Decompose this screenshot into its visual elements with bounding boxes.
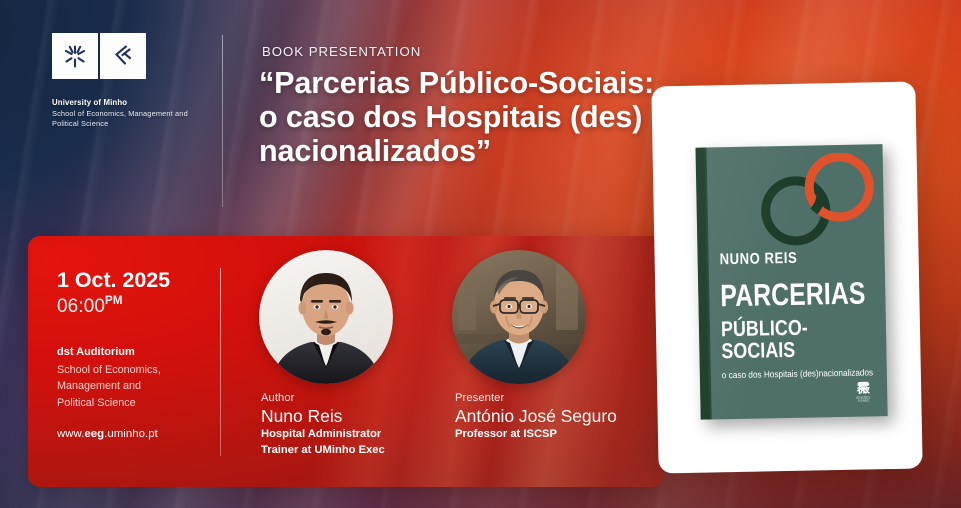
book-spine xyxy=(695,148,711,420)
event-poster: University of Minho School of Economics,… xyxy=(0,0,961,508)
speaker-name: Nuno Reis xyxy=(261,406,461,427)
event-time: 06:00PM xyxy=(57,295,123,318)
book-subtitle: o caso dos Hospitais (des)nacionalizados xyxy=(722,368,866,382)
publisher-mark-glyph: 霺 xyxy=(853,381,873,394)
page-title-line-2: o caso dos Hospitais (des) xyxy=(259,100,642,134)
publisher-logo: 霺 EDIÇÕES SILABO xyxy=(853,381,873,404)
speaker-presenter: Presenter António José Seguro Professor … xyxy=(455,391,655,442)
website-suffix: .uminho.pt xyxy=(104,428,158,440)
book-text-block: NUNO REIS PARCERIAS PÚBLICO-SOCIAIS o ca… xyxy=(719,248,881,381)
website-bold-part: eeg xyxy=(84,428,104,440)
page-title-line-3: nacionalizados” xyxy=(259,134,491,168)
asterisk-burst-glyph xyxy=(52,33,98,79)
university-school-line-2: Political Science xyxy=(52,119,108,128)
header-vertical-divider xyxy=(222,35,223,207)
speaker-author: Author Nuno Reis Hospital Administrator … xyxy=(261,391,461,458)
kicker-label: BOOK PRESENTATION xyxy=(262,44,421,59)
website-prefix: www. xyxy=(57,428,84,440)
portrait-nuno-reis xyxy=(259,250,393,384)
portrait-antonio-jose-seguro xyxy=(452,250,586,384)
venue-line-1: School of Economics, xyxy=(57,364,161,376)
speaker-role: Author xyxy=(261,391,461,406)
venue-line-3: Political Science xyxy=(57,397,136,409)
page-title-line-1: “Parcerias Público-Sociais: xyxy=(259,66,654,100)
speaker-name: António José Seguro xyxy=(455,406,655,427)
university-name-block: University of Minho School of Economics,… xyxy=(52,97,202,130)
book-title-line-2: PÚBLICO-SOCIAIS xyxy=(721,315,855,362)
speaker-affiliation-line-1: Professor at ISCSP xyxy=(455,427,655,442)
chevron-leaf-glyph xyxy=(100,33,146,79)
university-name: University of Minho xyxy=(52,98,127,107)
event-date: 1 Oct. 2025 xyxy=(57,268,170,293)
publisher-name-line-2: SILABO xyxy=(858,399,869,403)
venue-name: dst Auditorium xyxy=(57,344,227,361)
event-time-period: PM xyxy=(105,295,122,307)
website-link[interactable]: www.eeg.uminho.pt xyxy=(57,428,158,440)
venue-line-2: Management and xyxy=(57,380,141,392)
book-title-line-1: PARCERIAS xyxy=(720,278,849,312)
speaker-affiliation-line-1: Hospital Administrator xyxy=(261,427,461,442)
page-title: “Parcerias Público-Sociais: o caso dos H… xyxy=(259,66,679,168)
book-cover: NUNO REIS PARCERIAS PÚBLICO-SOCIAIS o ca… xyxy=(695,144,887,420)
event-venue: dst Auditorium School of Economics, Mana… xyxy=(57,344,227,411)
speaker-role: Presenter xyxy=(455,391,655,406)
university-school-line-1: School of Economics, Management and xyxy=(52,109,188,118)
university-of-minho-logo xyxy=(52,33,146,79)
book-cover-card: NUNO REIS PARCERIAS PÚBLICO-SOCIAIS o ca… xyxy=(651,82,922,474)
event-time-value: 06:00 xyxy=(57,296,105,317)
interlocking-rings-graphic xyxy=(751,152,883,254)
speaker-affiliation-line-2: Trainer at UMinho Exec xyxy=(261,443,461,458)
book-author-name: NUNO REIS xyxy=(719,249,854,269)
